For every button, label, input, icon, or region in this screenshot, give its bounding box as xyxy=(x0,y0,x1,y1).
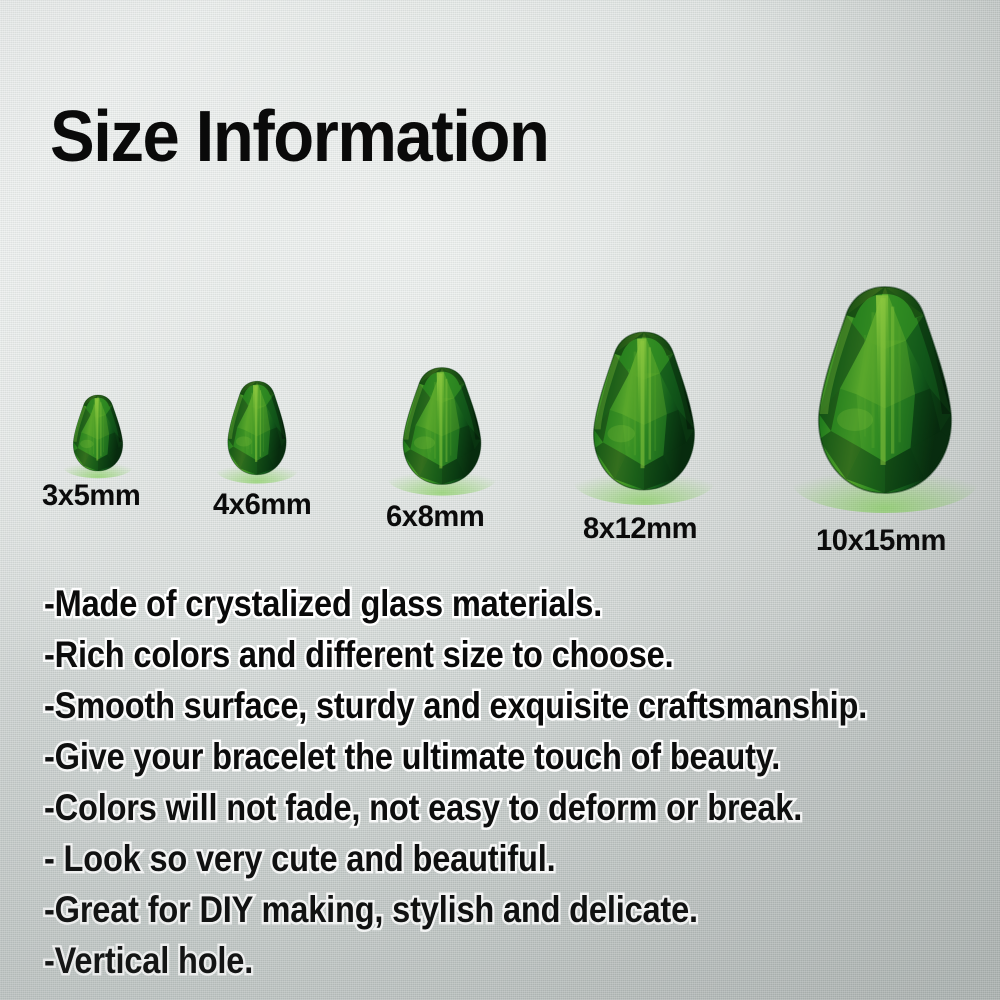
bead-3x5mm xyxy=(70,394,126,472)
feature-item: -Colors will not fade, not easy to defor… xyxy=(44,782,880,833)
feature-item: -Great for DIY making, stylish and delic… xyxy=(44,884,880,935)
feature-item: -Rich colors and different size to choos… xyxy=(44,629,880,680)
bead-8x12mm xyxy=(587,330,701,492)
size-label-6x8mm: 6x8mm xyxy=(386,500,484,534)
feature-item: -Made of crystalized glass materials. xyxy=(44,578,880,629)
feature-list: -Made of crystalized glass materials.-Ri… xyxy=(44,578,994,986)
feature-item: -Vertical hole. xyxy=(44,935,880,986)
size-label-10x15mm: 10x15mm xyxy=(816,524,946,558)
bead-4x6mm xyxy=(224,380,290,476)
size-label-8x12mm: 8x12mm xyxy=(583,512,697,546)
bead-6x8mm xyxy=(398,366,486,486)
bead-size-comparison-row: 3x5mm xyxy=(0,0,1000,580)
bead-10x15mm xyxy=(810,284,960,496)
infographic-canvas: Size Information xyxy=(0,0,1000,1000)
size-label-4x6mm: 4x6mm xyxy=(213,488,311,522)
size-label-3x5mm: 3x5mm xyxy=(42,479,140,513)
feature-item: - Look so very cute and beautiful. xyxy=(44,833,880,884)
feature-item: -Smooth surface, sturdy and exquisite cr… xyxy=(44,680,880,731)
feature-item: -Give your bracelet the ultimate touch o… xyxy=(44,731,880,782)
